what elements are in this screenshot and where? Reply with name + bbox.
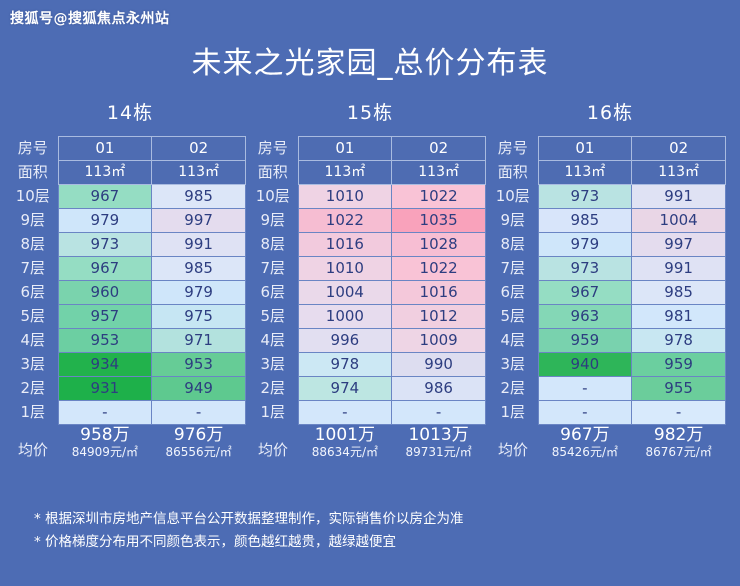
average-unit-price: 86556元/㎡ [152, 445, 246, 460]
price-cell: 963 [538, 305, 632, 329]
row-label-floor: 5层 [254, 305, 298, 329]
row-label-floor: 2层 [14, 377, 58, 401]
row-label-floor: 10层 [14, 185, 58, 209]
column-header-room: 01 [538, 137, 632, 161]
price-cell: 1000 [298, 305, 392, 329]
price-cell: 967 [538, 281, 632, 305]
row-label-floor: 8层 [254, 233, 298, 257]
row-label-floor: 1层 [254, 401, 298, 425]
row-label-floor: 7层 [254, 257, 298, 281]
price-cell: 959 [538, 329, 632, 353]
price-cell: 990 [392, 353, 486, 377]
building-block: 15栋房号0102面积113㎡113㎡10层101010229层10221035… [254, 98, 486, 462]
price-cell: 971 [152, 329, 246, 353]
price-cell: 940 [538, 353, 632, 377]
row-label-room-no: 房号 [14, 137, 58, 161]
table-row: 1层-- [494, 401, 726, 425]
row-label-floor: 9层 [14, 209, 58, 233]
price-cell: - [58, 401, 152, 425]
table-row-header-room: 房号0102 [14, 137, 246, 161]
table-row: 2层-955 [494, 377, 726, 401]
row-label-floor: 5层 [14, 305, 58, 329]
column-header-area: 113㎡ [538, 161, 632, 185]
average-cell: 976万86556元/㎡ [152, 425, 246, 462]
table-row: 6层10041016 [254, 281, 486, 305]
table-row: 2层931949 [14, 377, 246, 401]
average-unit-price: 86767元/㎡ [632, 445, 726, 460]
price-cell: 1010 [298, 257, 392, 281]
price-cell: 973 [538, 185, 632, 209]
building-block: 14栋房号0102面积113㎡113㎡10层9679859层9799978层97… [14, 98, 246, 462]
price-cell: 974 [298, 377, 392, 401]
table-row: 2层974986 [254, 377, 486, 401]
watermark: 搜狐号@搜狐焦点永州站 [10, 8, 170, 28]
row-label-room-no: 房号 [254, 137, 298, 161]
row-label-floor: 8层 [14, 233, 58, 257]
price-cell: 957 [58, 305, 152, 329]
price-cell: 967 [58, 185, 152, 209]
price-cell: 979 [538, 233, 632, 257]
price-table: 房号0102面积113㎡113㎡10层9739919层98510048层9799… [494, 136, 726, 462]
price-cell: 991 [632, 185, 726, 209]
average-total: 1013万 [392, 425, 486, 445]
price-cell: 960 [58, 281, 152, 305]
page-title: 未来之光家园_总价分布表 [0, 38, 740, 82]
price-cell: 986 [392, 377, 486, 401]
table-row-average: 均价958万84909元/㎡976万86556元/㎡ [14, 425, 246, 462]
price-cell: 967 [58, 257, 152, 281]
table-row: 10层10101022 [254, 185, 486, 209]
price-cell: 1010 [298, 185, 392, 209]
price-cell: 1016 [298, 233, 392, 257]
column-header-room: 01 [58, 137, 152, 161]
table-row: 10层967985 [14, 185, 246, 209]
tables-container: 14栋房号0102面积113㎡113㎡10层9679859层9799978层97… [0, 98, 740, 462]
row-label-floor: 9层 [494, 209, 538, 233]
table-row-header-area: 面积113㎡113㎡ [494, 161, 726, 185]
price-cell: 985 [538, 209, 632, 233]
table-row: 9层9851004 [494, 209, 726, 233]
price-cell: 985 [152, 185, 246, 209]
price-cell: 1028 [392, 233, 486, 257]
row-label-floor: 6层 [14, 281, 58, 305]
row-label-floor: 3层 [254, 353, 298, 377]
price-cell: - [538, 401, 632, 425]
price-cell: - [632, 401, 726, 425]
row-label-floor: 9层 [254, 209, 298, 233]
row-label-floor: 2层 [254, 377, 298, 401]
price-cell: 985 [152, 257, 246, 281]
row-label-floor: 7层 [494, 257, 538, 281]
average-cell: 958万84909元/㎡ [58, 425, 152, 462]
column-header-area: 113㎡ [152, 161, 246, 185]
price-cell: 985 [632, 281, 726, 305]
table-row: 7层973991 [494, 257, 726, 281]
table-row: 3层978990 [254, 353, 486, 377]
footnote-line: * 根据深圳市房地产信息平台公开数据整理制作，实际销售价以房企为准 [34, 508, 464, 531]
price-cell: 934 [58, 353, 152, 377]
table-row: 3层940959 [494, 353, 726, 377]
price-cell: - [538, 377, 632, 401]
price-cell: 1009 [392, 329, 486, 353]
building-title: 14栋 [14, 98, 246, 125]
building-title: 16栋 [494, 98, 726, 125]
average-total: 967万 [538, 425, 632, 445]
row-label-floor: 10层 [254, 185, 298, 209]
table-row-header-area: 面积113㎡113㎡ [14, 161, 246, 185]
row-label-floor: 4层 [254, 329, 298, 353]
table-row-average: 均价967万85426元/㎡982万86767元/㎡ [494, 425, 726, 462]
table-row-average: 均价1001万88634元/㎡1013万89731元/㎡ [254, 425, 486, 462]
table-row-header-room: 房号0102 [494, 137, 726, 161]
row-label-floor: 6层 [494, 281, 538, 305]
price-cell: 953 [58, 329, 152, 353]
price-cell: 1016 [392, 281, 486, 305]
price-cell: 991 [152, 233, 246, 257]
row-label-floor: 3层 [14, 353, 58, 377]
row-label-floor: 6层 [254, 281, 298, 305]
price-cell: 981 [632, 305, 726, 329]
average-unit-price: 84909元/㎡ [58, 445, 152, 460]
average-cell: 1001万88634元/㎡ [298, 425, 392, 462]
price-cell: 991 [632, 257, 726, 281]
price-cell: 949 [152, 377, 246, 401]
building-block: 16栋房号0102面积113㎡113㎡10层9739919层98510048层9… [494, 98, 726, 462]
average-total: 982万 [632, 425, 726, 445]
price-cell: 1022 [392, 185, 486, 209]
footnotes: * 根据深圳市房地产信息平台公开数据整理制作，实际销售价以房企为准* 价格梯度分… [34, 508, 464, 554]
row-label-floor: 10层 [494, 185, 538, 209]
footnote-line: * 价格梯度分布用不同颜色表示，颜色越红越贵，越绿越便宜 [34, 531, 464, 554]
column-header-room: 02 [152, 137, 246, 161]
column-header-area: 113㎡ [298, 161, 392, 185]
price-cell: 978 [298, 353, 392, 377]
price-cell: - [298, 401, 392, 425]
table-row: 8层973991 [14, 233, 246, 257]
price-cell: 1022 [298, 209, 392, 233]
average-unit-price: 88634元/㎡ [298, 445, 392, 460]
row-label-average: 均价 [494, 425, 538, 462]
table-row: 6层960979 [14, 281, 246, 305]
average-cell: 982万86767元/㎡ [632, 425, 726, 462]
table-row: 4层9961009 [254, 329, 486, 353]
price-cell: 955 [632, 377, 726, 401]
price-cell: 1004 [298, 281, 392, 305]
price-cell: 959 [632, 353, 726, 377]
row-label-average: 均价 [254, 425, 298, 462]
column-header-room: 02 [632, 137, 726, 161]
table-row: 6层967985 [494, 281, 726, 305]
price-cell: 997 [152, 209, 246, 233]
row-label-floor: 8层 [494, 233, 538, 257]
table-row: 4层959978 [494, 329, 726, 353]
column-header-area: 113㎡ [58, 161, 152, 185]
price-cell: 975 [152, 305, 246, 329]
row-label-floor: 7层 [14, 257, 58, 281]
column-header-room: 01 [298, 137, 392, 161]
row-label-floor: 4层 [14, 329, 58, 353]
average-unit-price: 89731元/㎡ [392, 445, 486, 460]
price-cell: 1022 [392, 257, 486, 281]
average-total: 958万 [58, 425, 152, 445]
price-cell: 997 [632, 233, 726, 257]
average-cell: 967万85426元/㎡ [538, 425, 632, 462]
price-cell: 1035 [392, 209, 486, 233]
row-label-floor: 1层 [494, 401, 538, 425]
table-row: 9层10221035 [254, 209, 486, 233]
table-row: 9层979997 [14, 209, 246, 233]
average-unit-price: 85426元/㎡ [538, 445, 632, 460]
row-label-floor: 4层 [494, 329, 538, 353]
price-cell: 979 [58, 209, 152, 233]
price-table: 房号0102面积113㎡113㎡10层9679859层9799978层97399… [14, 136, 246, 462]
column-header-area: 113㎡ [632, 161, 726, 185]
price-cell: 953 [152, 353, 246, 377]
average-total: 976万 [152, 425, 246, 445]
row-label-area: 面积 [494, 161, 538, 185]
price-cell: 973 [538, 257, 632, 281]
row-label-floor: 2层 [494, 377, 538, 401]
row-label-average: 均价 [14, 425, 58, 462]
price-cell: - [152, 401, 246, 425]
table-row: 5层963981 [494, 305, 726, 329]
row-label-area: 面积 [254, 161, 298, 185]
column-header-room: 02 [392, 137, 486, 161]
price-cell: 996 [298, 329, 392, 353]
price-cell: 978 [632, 329, 726, 353]
table-row: 8层10161028 [254, 233, 486, 257]
column-header-area: 113㎡ [392, 161, 486, 185]
row-label-floor: 5层 [494, 305, 538, 329]
price-cell: 1012 [392, 305, 486, 329]
table-row-header-area: 面积113㎡113㎡ [254, 161, 486, 185]
price-cell: 979 [152, 281, 246, 305]
price-cell: 931 [58, 377, 152, 401]
table-row: 7层10101022 [254, 257, 486, 281]
table-row: 10层973991 [494, 185, 726, 209]
table-row: 7层967985 [14, 257, 246, 281]
table-row: 8层979997 [494, 233, 726, 257]
building-title: 15栋 [254, 98, 486, 125]
row-label-floor: 1层 [14, 401, 58, 425]
table-row: 5层10001012 [254, 305, 486, 329]
row-label-floor: 3层 [494, 353, 538, 377]
price-cell: - [392, 401, 486, 425]
price-table: 房号0102面积113㎡113㎡10层101010229层102210358层1… [254, 136, 486, 462]
table-row: 3层934953 [14, 353, 246, 377]
row-label-area: 面积 [14, 161, 58, 185]
row-label-room-no: 房号 [494, 137, 538, 161]
average-cell: 1013万89731元/㎡ [392, 425, 486, 462]
table-row: 4层953971 [14, 329, 246, 353]
table-row: 1层-- [254, 401, 486, 425]
average-total: 1001万 [298, 425, 392, 445]
table-row-header-room: 房号0102 [254, 137, 486, 161]
price-cell: 973 [58, 233, 152, 257]
price-cell: 1004 [632, 209, 726, 233]
table-row: 1层-- [14, 401, 246, 425]
table-row: 5层957975 [14, 305, 246, 329]
